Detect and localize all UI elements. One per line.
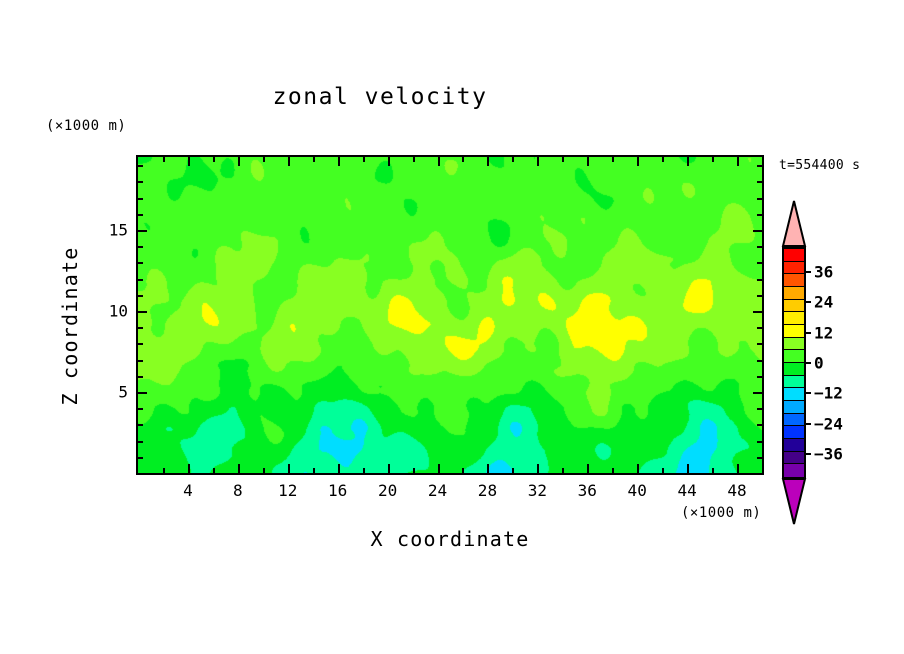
x-tick-top xyxy=(188,157,190,166)
x-tick-bottom xyxy=(562,468,564,473)
x-tick-top xyxy=(213,157,215,162)
y-tick-left xyxy=(138,230,147,232)
y-axis-unit-label: (×1000 m) xyxy=(46,118,126,134)
x-tick-bottom xyxy=(487,464,489,473)
x-tick-bottom xyxy=(537,464,539,473)
x-tick-top xyxy=(363,157,365,162)
colorbar-band xyxy=(784,350,804,363)
y-tick-left xyxy=(138,295,143,297)
y-tick-left xyxy=(138,360,143,362)
colorbar-band xyxy=(784,452,804,465)
x-tick-bottom xyxy=(462,468,464,473)
colorbar-label: −24 xyxy=(814,414,843,433)
colorbar-band xyxy=(784,300,804,313)
y-tick-right xyxy=(757,214,762,216)
plot-area xyxy=(136,155,764,475)
x-tick-top xyxy=(438,157,440,166)
x-tick-label: 12 xyxy=(278,481,297,500)
x-tick-label: 28 xyxy=(478,481,497,500)
x-tick-bottom xyxy=(163,468,165,473)
colorbar-tick xyxy=(806,453,811,455)
colorbar-band xyxy=(784,464,804,477)
colorbar-label: 12 xyxy=(814,323,833,342)
x-tick-bottom xyxy=(263,468,265,473)
colorbar-label: −36 xyxy=(814,445,843,464)
y-tick-right xyxy=(757,327,762,329)
x-tick-top xyxy=(338,157,340,166)
y-tick-right xyxy=(753,311,762,313)
x-axis-title: X coordinate xyxy=(136,527,764,551)
y-tick-right xyxy=(757,181,762,183)
x-tick-bottom xyxy=(612,468,614,473)
x-tick-top xyxy=(562,157,564,162)
x-tick-label: 40 xyxy=(628,481,647,500)
y-tick-right xyxy=(757,246,762,248)
x-tick-top xyxy=(512,157,514,162)
y-tick-left xyxy=(138,376,143,378)
x-tick-bottom xyxy=(363,468,365,473)
y-tick-right xyxy=(757,408,762,410)
y-tick-left xyxy=(138,181,143,183)
y-tick-label: 15 xyxy=(88,220,128,239)
x-tick-label: 48 xyxy=(727,481,746,500)
y-tick-right xyxy=(757,424,762,426)
x-tick-top xyxy=(263,157,265,162)
y-tick-left xyxy=(138,408,143,410)
colorbar-band xyxy=(784,401,804,414)
colorbar-band xyxy=(784,376,804,389)
y-tick-left xyxy=(138,311,147,313)
x-tick-bottom xyxy=(313,468,315,473)
contour-plot-figure: zonal velocity (×1000 m) t=554400 s 4812… xyxy=(0,0,904,654)
y-tick-label: 5 xyxy=(88,382,128,401)
y-tick-right xyxy=(757,262,762,264)
y-tick-left xyxy=(138,262,143,264)
colorbar-band xyxy=(784,287,804,300)
colorbar-band xyxy=(784,426,804,439)
y-tick-left xyxy=(138,246,143,248)
colorbar-band xyxy=(784,274,804,287)
colorbar-band xyxy=(784,388,804,401)
colorbar-band xyxy=(784,363,804,376)
colorbar-label: 0 xyxy=(814,354,824,373)
colorbar-label: 24 xyxy=(814,293,833,312)
x-tick-bottom xyxy=(338,464,340,473)
colorbar-band xyxy=(784,312,804,325)
x-tick-top xyxy=(637,157,639,166)
y-tick-right xyxy=(757,441,762,443)
colorbar-label: 36 xyxy=(814,262,833,281)
x-tick-bottom xyxy=(662,468,664,473)
y-tick-right xyxy=(757,198,762,200)
x-tick-bottom xyxy=(587,464,589,473)
x-tick-bottom xyxy=(238,464,240,473)
colorbar-band xyxy=(784,414,804,427)
x-tick-label: 44 xyxy=(677,481,696,500)
colorbar-band xyxy=(784,325,804,338)
x-tick-bottom xyxy=(413,468,415,473)
x-tick-top xyxy=(587,157,589,166)
y-tick-left xyxy=(138,343,143,345)
x-tick-top xyxy=(313,157,315,162)
y-tick-right xyxy=(753,392,762,394)
colorbar-band xyxy=(784,439,804,452)
y-tick-left xyxy=(138,198,143,200)
y-tick-left xyxy=(138,457,143,459)
colorbar-tick xyxy=(806,271,811,273)
y-tick-right xyxy=(753,230,762,232)
colorbar[interactable] xyxy=(782,247,806,479)
x-tick-label: 36 xyxy=(578,481,597,500)
x-tick-bottom xyxy=(512,468,514,473)
colorbar-tick xyxy=(806,392,811,394)
colorbar-band xyxy=(784,262,804,275)
y-tick-label: 10 xyxy=(88,301,128,320)
colorbar-tick xyxy=(806,423,811,425)
x-tick-bottom xyxy=(388,464,390,473)
y-tick-right xyxy=(757,360,762,362)
x-tick-bottom xyxy=(213,468,215,473)
colorbar-label: −12 xyxy=(814,384,843,403)
colorbar-tick xyxy=(806,301,811,303)
x-axis-unit-label: (×1000 m) xyxy=(681,505,761,521)
x-tick-top xyxy=(238,157,240,166)
x-tick-top xyxy=(662,157,664,162)
colorbar-tick xyxy=(806,332,811,334)
x-tick-label: 8 xyxy=(233,481,243,500)
x-tick-top xyxy=(462,157,464,162)
y-tick-left xyxy=(138,279,143,281)
x-tick-bottom xyxy=(188,464,190,473)
y-tick-left xyxy=(138,392,147,394)
y-tick-left xyxy=(138,214,143,216)
x-tick-bottom xyxy=(687,464,689,473)
x-tick-top xyxy=(537,157,539,166)
y-tick-right xyxy=(757,165,762,167)
y-tick-left xyxy=(138,424,143,426)
x-tick-top xyxy=(612,157,614,162)
x-tick-bottom xyxy=(737,464,739,473)
y-tick-right xyxy=(757,343,762,345)
colorbar-tick xyxy=(806,362,811,364)
y-tick-right xyxy=(757,457,762,459)
y-axis-title: Z coordinate xyxy=(58,226,82,426)
x-tick-bottom xyxy=(712,468,714,473)
x-tick-top xyxy=(687,157,689,166)
x-tick-label: 32 xyxy=(528,481,547,500)
x-tick-bottom xyxy=(288,464,290,473)
x-tick-bottom xyxy=(637,464,639,473)
x-tick-top xyxy=(737,157,739,166)
x-tick-top xyxy=(388,157,390,166)
y-tick-left xyxy=(138,441,143,443)
y-tick-right xyxy=(757,376,762,378)
x-tick-top xyxy=(163,157,165,162)
y-tick-right xyxy=(757,279,762,281)
contour-field-canvas xyxy=(138,157,762,473)
x-tick-top xyxy=(413,157,415,162)
y-tick-right xyxy=(757,295,762,297)
x-tick-label: 16 xyxy=(328,481,347,500)
x-tick-label: 20 xyxy=(378,481,397,500)
x-tick-bottom xyxy=(438,464,440,473)
x-tick-label: 4 xyxy=(183,481,193,500)
x-tick-top xyxy=(487,157,489,166)
y-tick-left xyxy=(138,327,143,329)
x-tick-label: 24 xyxy=(428,481,447,500)
x-tick-top xyxy=(288,157,290,166)
timestamp-annotation: t=554400 s xyxy=(779,158,860,173)
x-tick-top xyxy=(712,157,714,162)
colorbar-band xyxy=(784,338,804,351)
page-title: zonal velocity xyxy=(0,84,760,110)
y-tick-left xyxy=(138,165,143,167)
colorbar-band xyxy=(784,249,804,262)
